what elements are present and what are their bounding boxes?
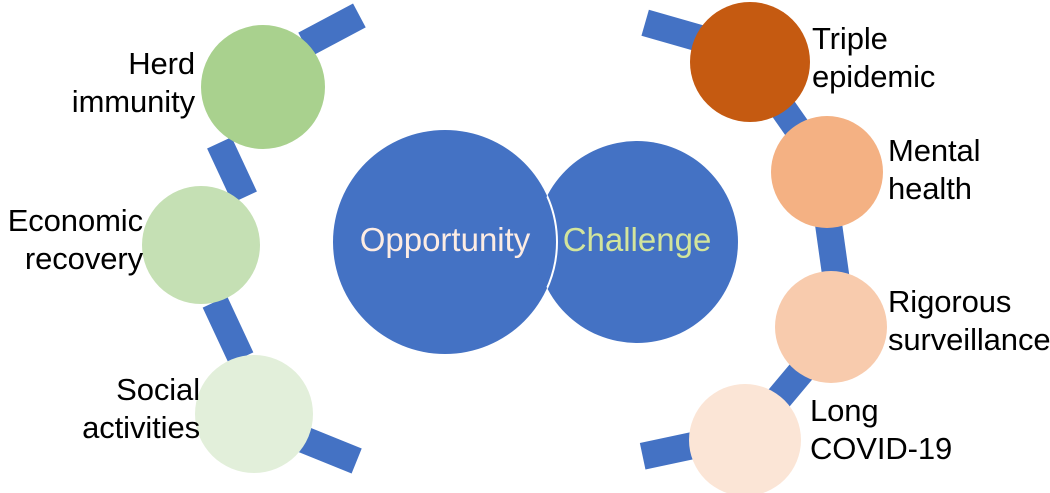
node-circle-social-activities[interactable] xyxy=(195,355,313,473)
node-circle-herd-immunity[interactable] xyxy=(201,25,325,149)
node-label-herd-immunity: Herd immunity xyxy=(20,45,195,121)
hub-label-challenge: Challenge xyxy=(487,223,787,256)
node-circle-triple-epidemic[interactable] xyxy=(690,2,810,122)
node-circle-long-covid-19[interactable] xyxy=(689,384,801,493)
node-label-triple-epidemic: Triple epidemic xyxy=(812,20,1032,96)
node-label-long-covid-19: Long COVID-19 xyxy=(810,392,1030,468)
node-label-mental-health: Mental health xyxy=(888,132,1050,208)
diagram-canvas: OpportunityChallengeHerd immunityEconomi… xyxy=(0,0,1050,493)
node-label-social-activities: Social activities xyxy=(25,371,200,447)
conn-economic-to-social xyxy=(203,296,254,364)
node-label-economic-recovery: Economic recovery xyxy=(0,202,143,278)
node-circle-rigorous-surveillance[interactable] xyxy=(775,271,887,383)
node-circle-mental-health[interactable] xyxy=(771,116,883,228)
node-label-rigorous-surveillance: Rigorous surveillance xyxy=(888,283,1050,359)
node-circle-economic-recovery[interactable] xyxy=(142,186,260,304)
